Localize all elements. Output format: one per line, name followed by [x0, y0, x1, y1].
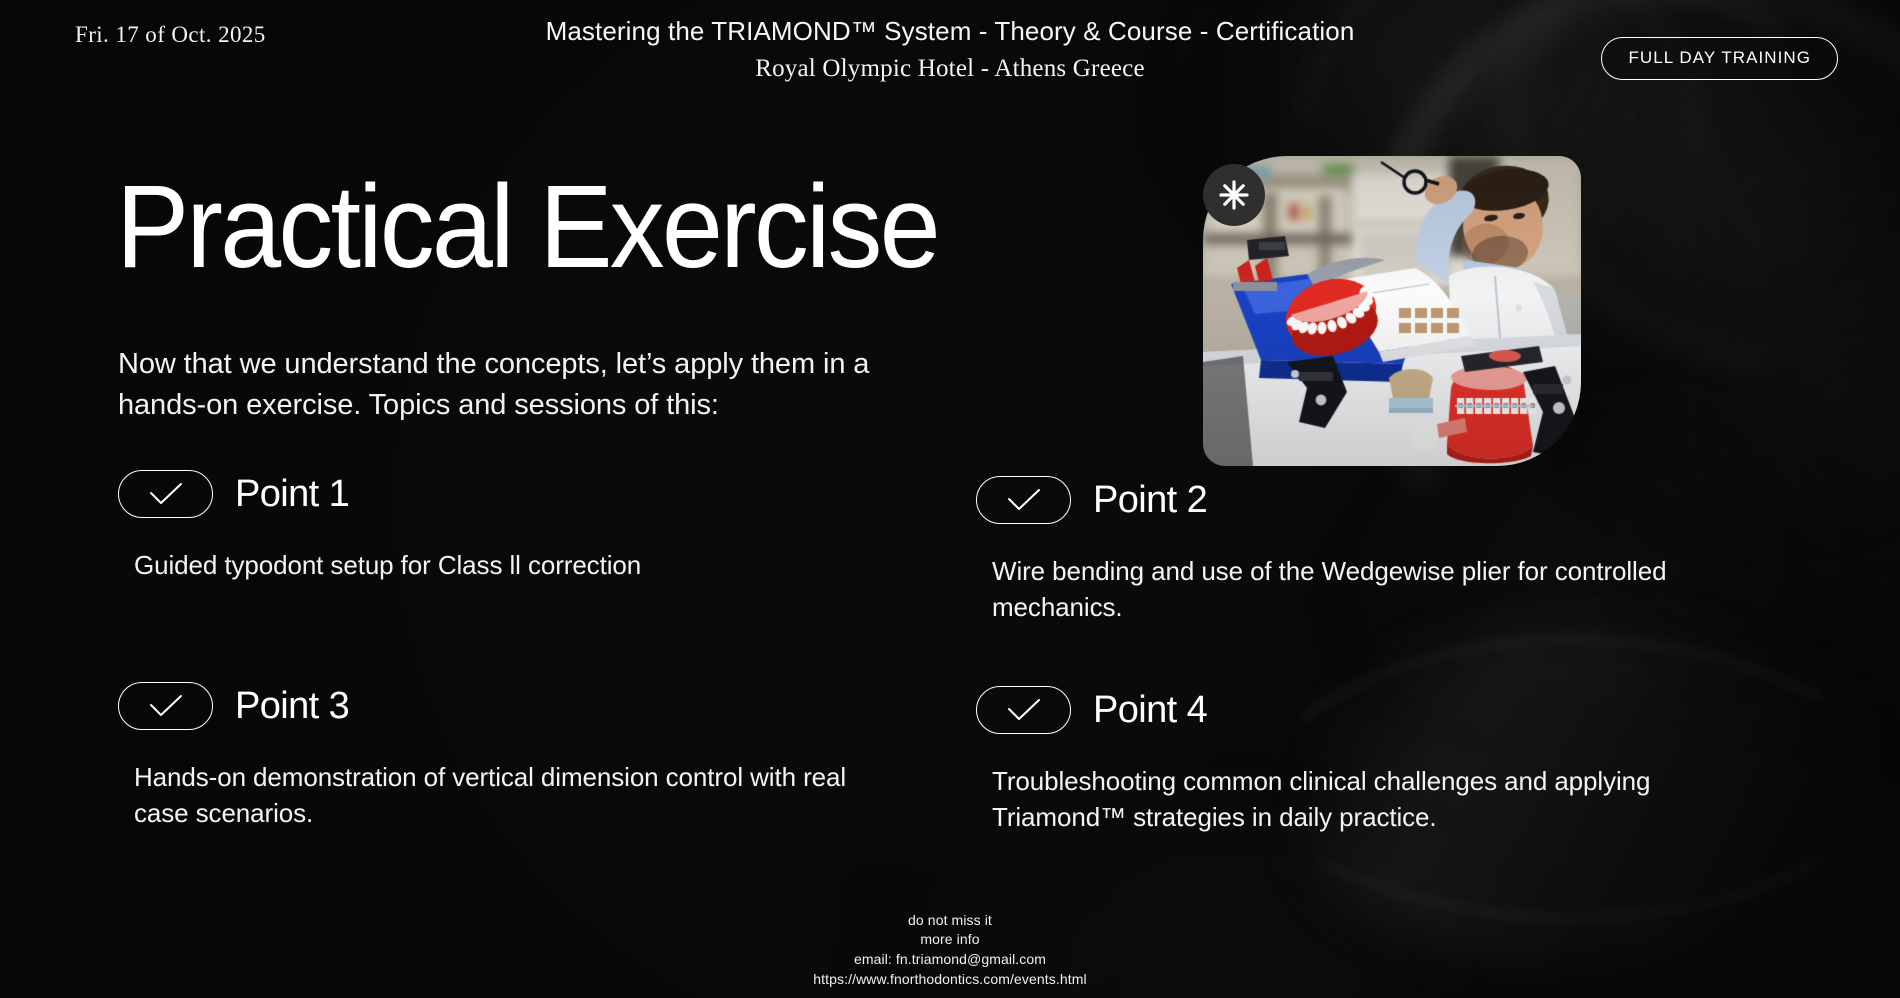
footer-contact: do not miss it more info email: fn.triam… — [0, 911, 1900, 991]
event-date: Fri. 17 of Oct. 2025 — [75, 22, 266, 48]
point-item-4: Point 4 Troubleshooting common clinical … — [976, 686, 1766, 836]
asterisk-icon — [1203, 164, 1265, 226]
check-icon — [976, 686, 1071, 734]
point-description-2: Wire bending and use of the Wedgewise pl… — [992, 554, 1766, 626]
footer-line-2: more info — [0, 930, 1900, 950]
point-header-1: Point 1 — [118, 470, 878, 518]
header-bar: Fri. 17 of Oct. 2025 Mastering the TRIAM… — [0, 0, 1900, 110]
header-center-block: Mastering the TRIAMOND™ System - Theory … — [450, 15, 1450, 83]
point-title-1: Point 1 — [235, 475, 349, 513]
event-venue: Royal Olympic Hotel - Athens Greece — [450, 55, 1450, 83]
point-title-4: Point 4 — [1093, 691, 1207, 729]
check-icon — [118, 682, 213, 730]
point-item-2: Point 2 Wire bending and use of the Wedg… — [976, 476, 1766, 626]
point-header-2: Point 2 — [976, 476, 1766, 524]
point-header-4: Point 4 — [976, 686, 1766, 734]
point-title-2: Point 2 — [1093, 481, 1207, 519]
footer-url[interactable]: https://www.fnorthodontics.com/events.ht… — [0, 970, 1900, 990]
footer-line-1: do not miss it — [0, 911, 1900, 931]
check-icon — [118, 470, 213, 518]
point-description-3: Hands-on demonstration of vertical dimen… — [134, 760, 878, 832]
check-icon — [976, 476, 1071, 524]
point-item-1: Point 1 Guided typodont setup for Class … — [118, 470, 878, 584]
point-title-3: Point 3 — [235, 687, 349, 725]
point-description-4: Troubleshooting common clinical challeng… — [992, 764, 1766, 836]
page-title: Practical Exercise — [116, 168, 938, 286]
full-day-training-badge[interactable]: FULL DAY TRAINING — [1601, 37, 1838, 80]
page-subtitle: Now that we understand the concepts, let… — [118, 344, 948, 426]
footer-email[interactable]: email: fn.triamond@gmail.com — [0, 950, 1900, 970]
event-title: Mastering the TRIAMOND™ System - Theory … — [450, 15, 1450, 49]
point-item-3: Point 3 Hands-on demonstration of vertic… — [118, 682, 878, 832]
point-description-1: Guided typodont setup for Class ll corre… — [134, 548, 878, 584]
point-header-3: Point 3 — [118, 682, 878, 730]
